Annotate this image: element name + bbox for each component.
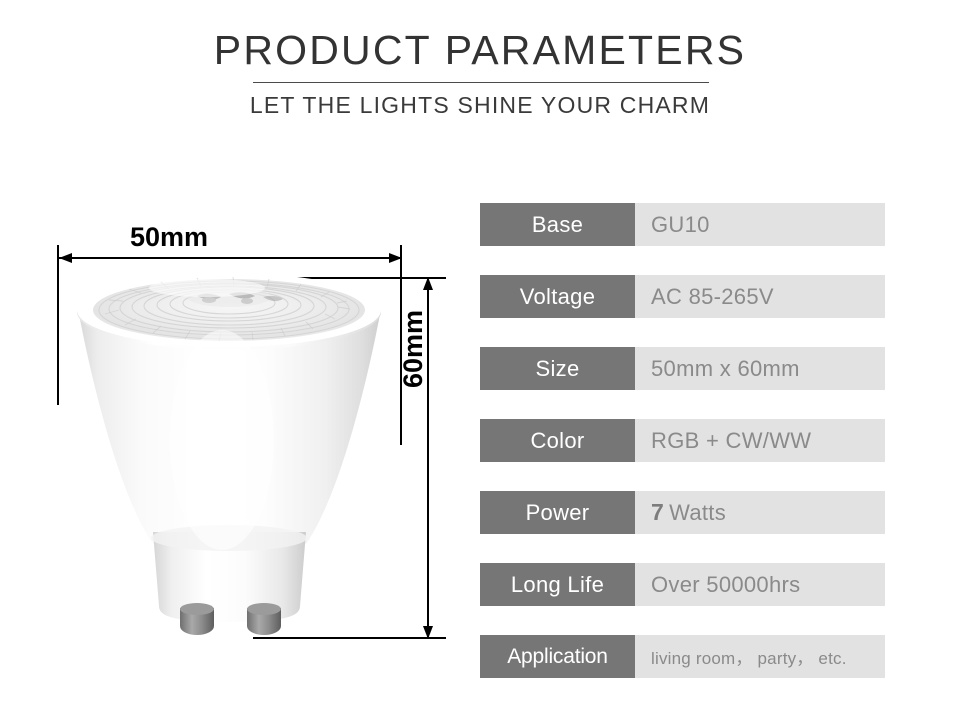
spec-label-size: Size — [480, 347, 635, 390]
power-unit: Watts — [669, 500, 726, 526]
width-arrow-right-icon — [389, 253, 402, 263]
spec-value-color: RGB + CW/WW — [635, 419, 885, 462]
spec-value-power: 7Watts — [635, 491, 885, 534]
spec-value-long-life: Over 50000hrs — [635, 563, 885, 606]
gu10-led-bulb-image — [57, 270, 402, 640]
height-arrow-up-icon — [423, 277, 433, 290]
power-number: 7 — [651, 499, 664, 526]
spec-label-long-life: Long Life — [480, 563, 635, 606]
spec-value-size: 50mm x 60mm — [635, 347, 885, 390]
width-dimension-line — [59, 257, 401, 259]
table-row: Application living room， party， etc. — [480, 635, 885, 678]
spec-label-color: Color — [480, 419, 635, 462]
height-dimension-line — [427, 278, 429, 638]
table-row: Long Life Over 50000hrs — [480, 563, 885, 606]
height-dimension-label: 60mm — [398, 310, 429, 388]
spec-label-application: Application — [480, 635, 635, 678]
spec-label-power: Power — [480, 491, 635, 534]
page-subtitle: LET THE LIGHTS SHINE YOUR CHARM — [0, 92, 960, 119]
table-row: Voltage AC 85-265V — [480, 275, 885, 318]
spec-value-application: living room， party， etc. — [635, 635, 885, 678]
title-divider — [253, 82, 709, 83]
spec-value-base: GU10 — [635, 203, 885, 246]
spec-table: Base GU10 Voltage AC 85-265V Size 50mm x… — [480, 203, 885, 707]
height-arrow-down-icon — [423, 626, 433, 639]
page-title: PRODUCT PARAMETERS — [0, 27, 960, 74]
table-row: Size 50mm x 60mm — [480, 347, 885, 390]
table-row: Base GU10 — [480, 203, 885, 246]
width-dimension-label: 50mm — [130, 222, 208, 253]
product-parameters-infographic: PRODUCT PARAMETERS LET THE LIGHTS SHINE … — [0, 0, 960, 723]
spec-value-voltage: AC 85-265V — [635, 275, 885, 318]
spec-label-voltage: Voltage — [480, 275, 635, 318]
table-row: Power 7Watts — [480, 491, 885, 534]
product-figure-area: 50mm 60mm — [0, 170, 470, 690]
table-row: Color RGB + CW/WW — [480, 419, 885, 462]
header: PRODUCT PARAMETERS LET THE LIGHTS SHINE … — [0, 0, 960, 140]
width-arrow-left-icon — [59, 253, 72, 263]
spec-label-base: Base — [480, 203, 635, 246]
